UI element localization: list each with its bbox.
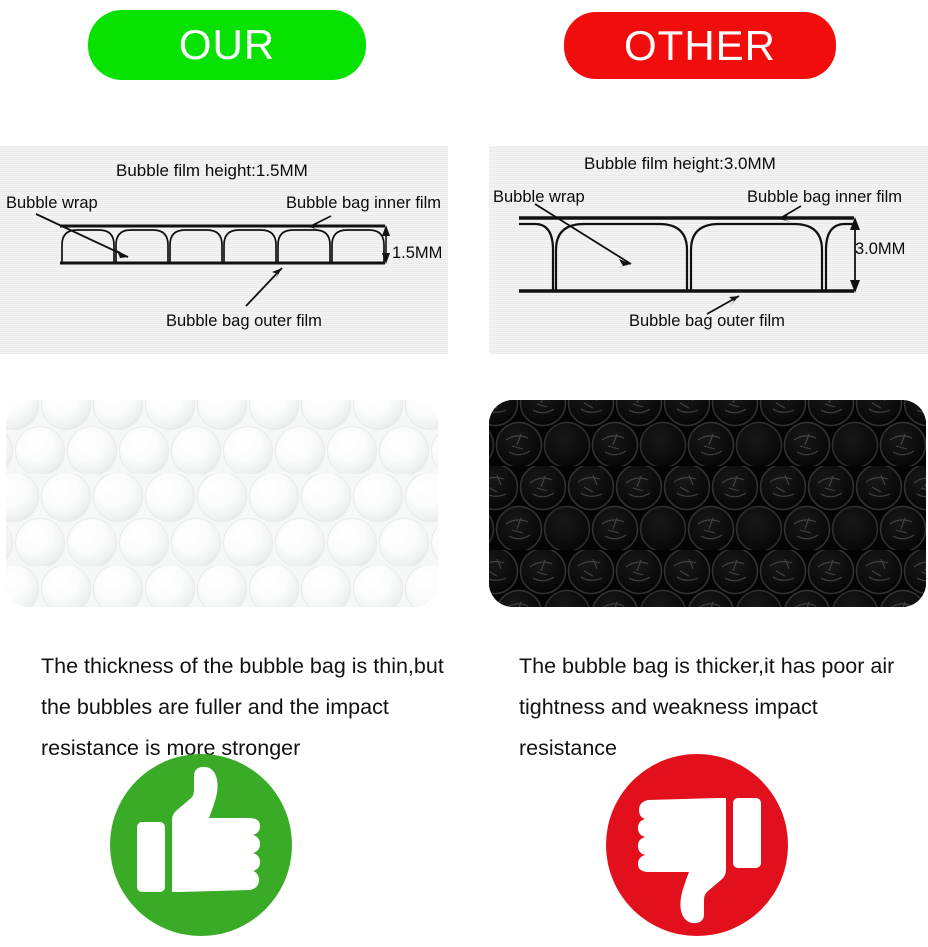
schematic-other-title: Bubble film height:3.0MM — [584, 155, 776, 172]
schematic-other-label-inner-film: Bubble bag inner film — [747, 189, 902, 206]
verdict-badge-our — [110, 754, 292, 936]
verdict-badge-other — [606, 754, 788, 936]
bubble-wrap-photo-other — [489, 400, 926, 607]
schematic-our-label-inner-film: Bubble bag inner film — [286, 195, 441, 212]
header-badge-other: OTHER — [564, 12, 836, 79]
schematic-our-title: Bubble film height:1.5MM — [116, 162, 308, 179]
header-badge-our: OUR — [88, 10, 366, 80]
schematic-our-label-bubble-wrap: Bubble wrap — [6, 195, 98, 212]
thumbs-down-icon — [606, 754, 788, 936]
description-our: The thickness of the bubble bag is thin,… — [41, 646, 451, 769]
schematic-other-label-bubble-wrap: Bubble wrap — [493, 189, 585, 206]
schematic-our-dimension-value: 1.5MM — [392, 245, 442, 262]
bubble-wrap-photo-our — [6, 400, 438, 607]
schematic-other-label-outer-film: Bubble bag outer film — [629, 313, 785, 330]
schematic-diagram-other: Bubble film height:3.0MM Bubble wrap Bub… — [489, 146, 928, 354]
thumbs-up-icon — [110, 754, 292, 936]
bubble-wrap-photo-our-texture — [6, 400, 438, 607]
bubble-wrap-photo-other-texture — [489, 400, 926, 607]
schematic-other-dimension-value: 3.0MM — [855, 241, 905, 258]
description-other: The bubble bag is thicker,it has poor ai… — [519, 646, 919, 769]
header-badge-other-label: OTHER — [624, 25, 776, 67]
schematic-diagram-our: Bubble film height:1.5MM Bubble wrap Bub… — [0, 146, 448, 354]
schematic-our-label-outer-film: Bubble bag outer film — [166, 313, 322, 330]
header-badge-our-label: OUR — [179, 24, 275, 66]
